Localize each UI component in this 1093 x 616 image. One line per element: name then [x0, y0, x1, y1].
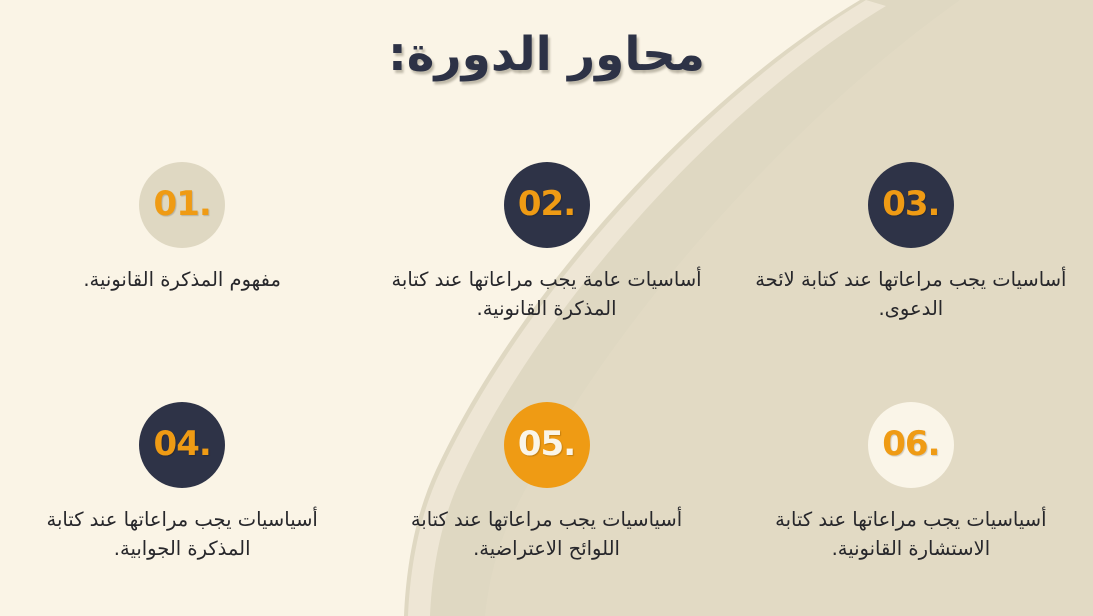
- topic-number-02: 02.: [518, 184, 575, 224]
- topic-number-01: 01.: [154, 184, 211, 224]
- topic-number-04: 04.: [154, 424, 211, 464]
- topic-number-05: 05.: [518, 424, 575, 464]
- page-title: محاور الدورة:: [0, 26, 1093, 85]
- topic-item-04[interactable]: 04. أسياسيات يجب مراعاتها عند كتابة المذ…: [0, 380, 364, 600]
- topic-number-03: 03.: [882, 184, 939, 224]
- topic-badge-02: 02.: [504, 162, 590, 248]
- topic-caption-01: مفهوم المذكرة القانونية.: [37, 266, 327, 295]
- topic-badge-03: 03.: [868, 162, 954, 248]
- topic-caption-05: أسياسيات يجب مراعاتها عند كتابة اللوائح …: [392, 506, 702, 564]
- topic-badge-05: 05.: [504, 402, 590, 488]
- topic-item-03[interactable]: 03. أساسيات يجب مراعاتها عند كتابة لائحة…: [729, 160, 1093, 380]
- topics-grid: 03. أساسيات يجب مراعاتها عند كتابة لائحة…: [0, 160, 1093, 600]
- topic-badge-01: 01.: [139, 162, 225, 248]
- topic-item-06[interactable]: 06. أسياسيات يجب مراعاتها عند كتابة الاس…: [729, 380, 1093, 600]
- slide-canvas: محاور الدورة: 03. أساسيات يجب مراعاتها ع…: [0, 0, 1093, 616]
- topic-badge-06: 06.: [868, 402, 954, 488]
- topic-badge-04: 04.: [139, 402, 225, 488]
- topic-number-06: 06.: [882, 424, 939, 464]
- topic-item-01[interactable]: 01. مفهوم المذكرة القانونية.: [0, 160, 364, 380]
- topic-caption-02: أساسيات عامة يجب مراعاتها عند كتابة المذ…: [387, 266, 707, 324]
- topic-caption-04: أسياسيات يجب مراعاتها عند كتابة المذكرة …: [27, 506, 337, 564]
- topic-item-02[interactable]: 02. أساسيات عامة يجب مراعاتها عند كتابة …: [364, 160, 728, 380]
- topic-caption-06: أسياسيات يجب مراعاتها عند كتابة الاستشار…: [746, 506, 1076, 564]
- topic-caption-03: أساسيات يجب مراعاتها عند كتابة لائحة الد…: [751, 266, 1071, 324]
- topic-item-05[interactable]: 05. أسياسيات يجب مراعاتها عند كتابة اللو…: [364, 380, 728, 600]
